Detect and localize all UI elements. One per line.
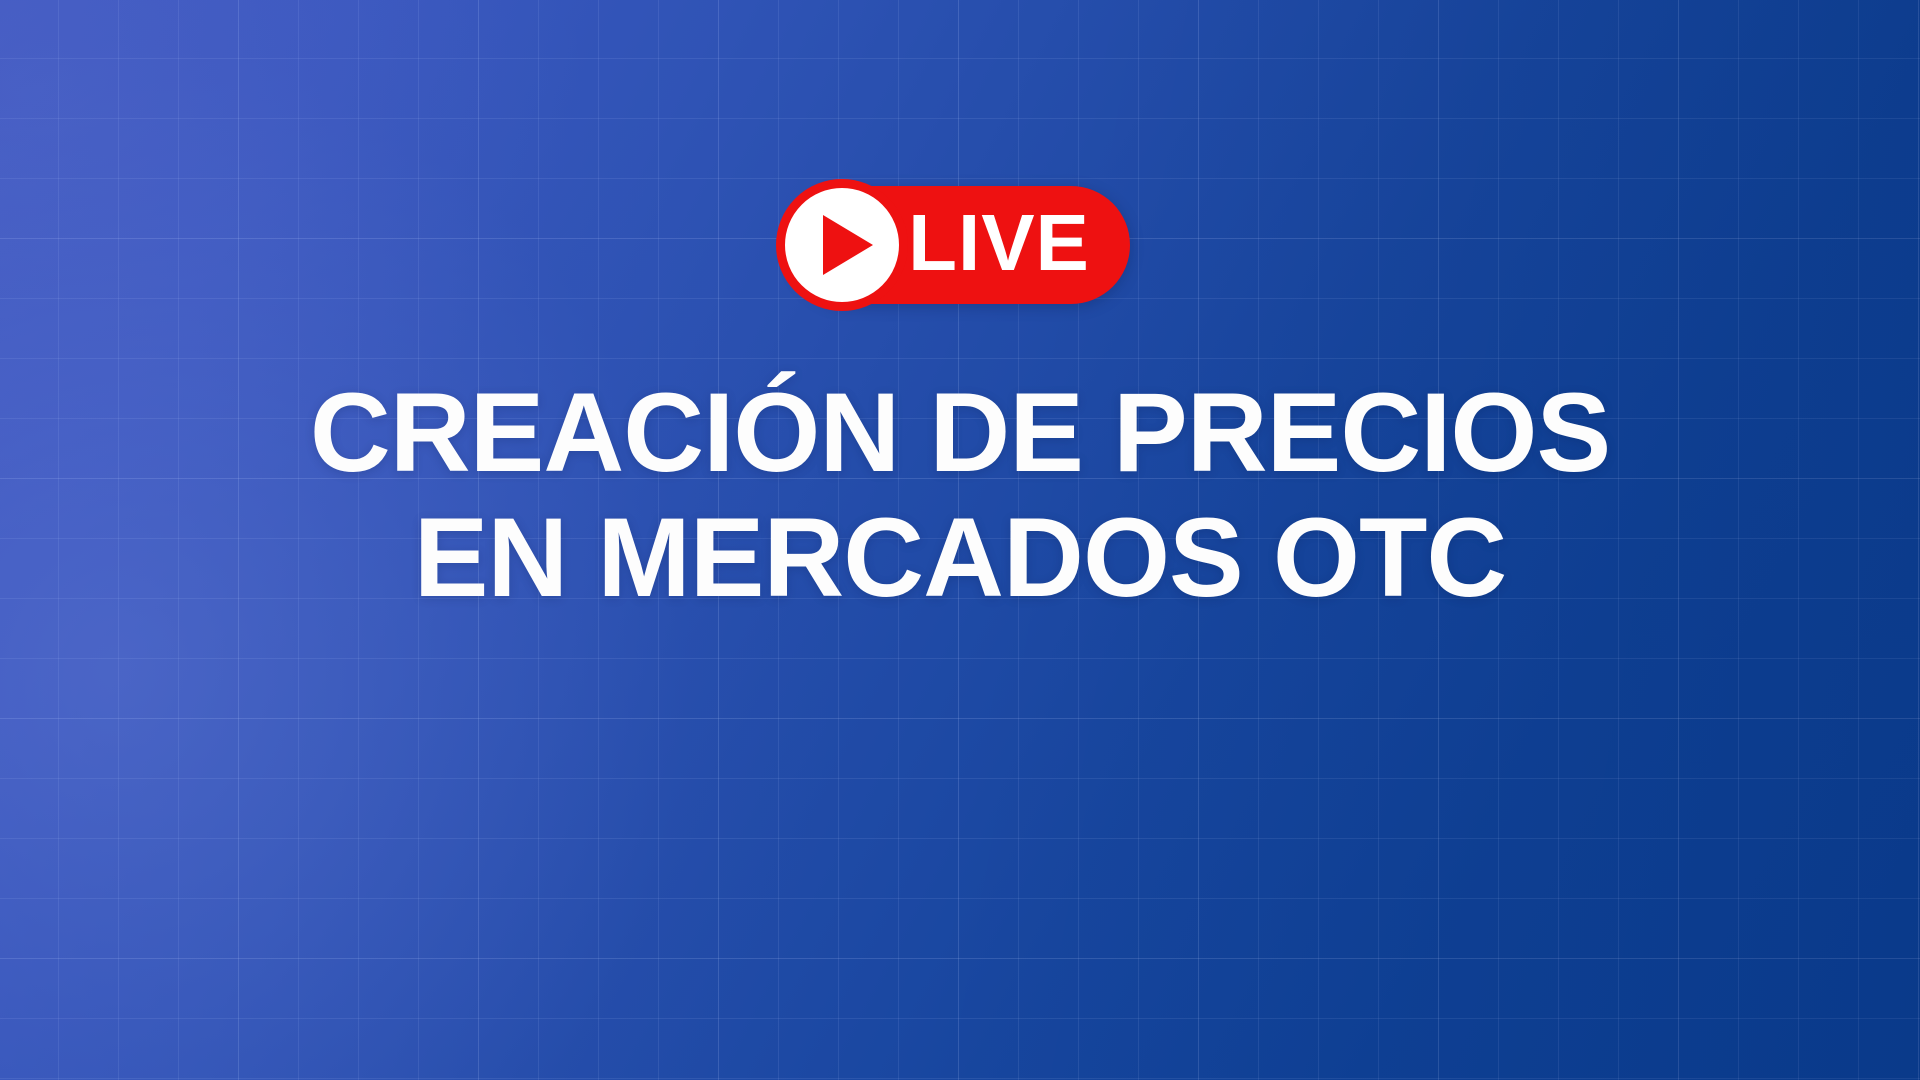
live-badge: LIVE xyxy=(790,186,1130,304)
content-column: LIVE CREACIÓN DE PRECIOS EN MERCADOS OTC xyxy=(0,0,1920,1080)
live-title-card: LIVE CREACIÓN DE PRECIOS EN MERCADOS OTC xyxy=(0,0,1920,1080)
page-title-line-1: CREACIÓN DE PRECIOS xyxy=(0,370,1920,495)
page-title: CREACIÓN DE PRECIOS EN MERCADOS OTC xyxy=(0,370,1920,621)
play-icon xyxy=(776,179,908,311)
live-badge-label: LIVE xyxy=(908,203,1090,287)
play-triangle xyxy=(823,215,873,275)
page-title-line-2: EN MERCADOS OTC xyxy=(0,495,1920,620)
